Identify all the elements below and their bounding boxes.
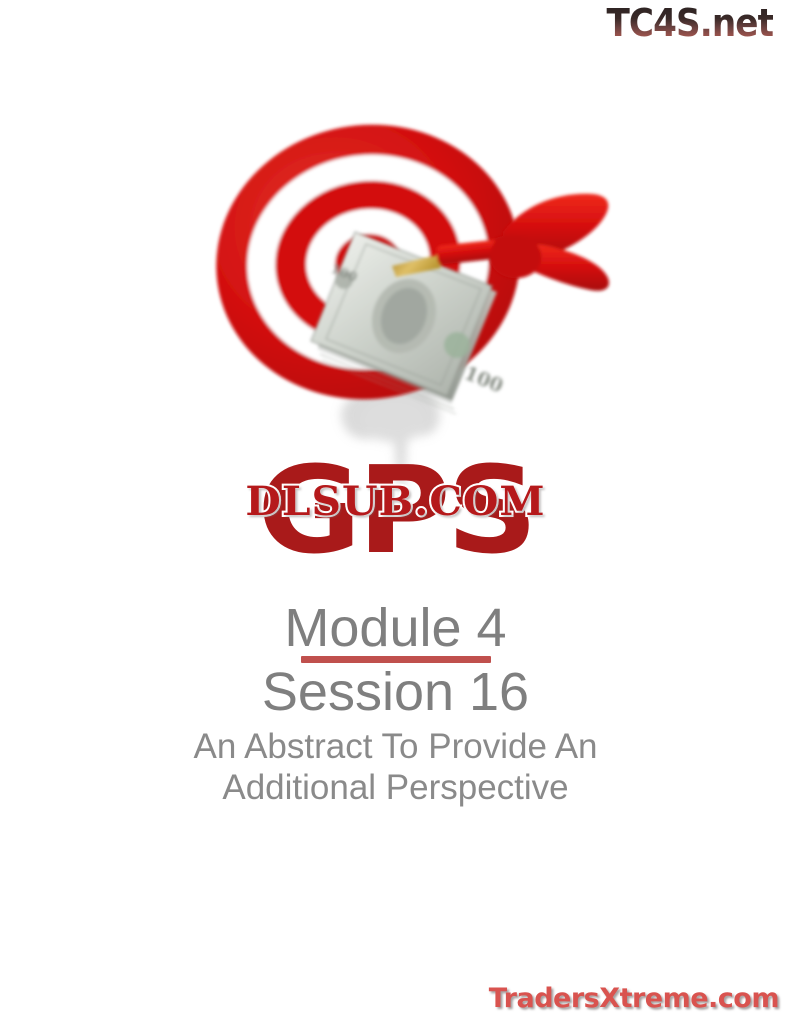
brand-logo-top: TC4S.net bbox=[606, 4, 773, 42]
subtitle-line-1: An Abstract To Provide An bbox=[0, 726, 791, 767]
session-title: Session 16 bbox=[0, 662, 791, 722]
title-slide: TC4S.net bbox=[0, 0, 791, 1024]
dlsub-watermark: DLSUB.COM bbox=[0, 480, 791, 524]
svg-text:100: 100 bbox=[461, 362, 506, 397]
module-title: Module 4 bbox=[0, 598, 791, 658]
title-block: Module 4 Session 16 An Abstract To Provi… bbox=[0, 598, 791, 808]
subtitle-line-2: Additional Perspective bbox=[0, 767, 791, 808]
brand-logo-bottom: TradersXtreme.com bbox=[489, 985, 779, 1012]
